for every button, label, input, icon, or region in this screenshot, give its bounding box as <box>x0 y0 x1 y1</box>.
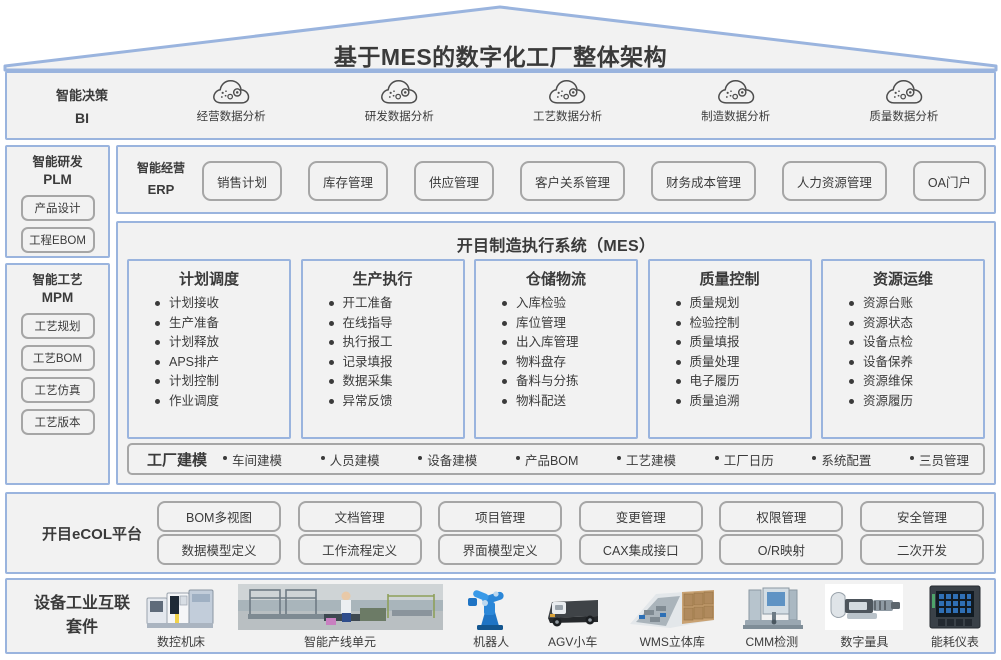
page-title: 基于MES的数字化工厂整体架构 <box>0 38 1001 72</box>
roof-banner: 基于MES的数字化工厂整体架构 <box>0 0 1001 72</box>
mes-column-items: 入库检验 库位管理 出入库管理 物料盘存 备料与分拣 物料配送 <box>476 294 636 411</box>
energy-meter-icon <box>924 584 986 632</box>
plm-label: 智能研发 PLM <box>7 147 108 189</box>
bi-layer: 智能决策 BI 经营数据分析 <box>5 71 996 140</box>
bi-item-label: 制造数据分析 <box>701 108 770 124</box>
list-item[interactable]: 资源状态 <box>849 314 983 334</box>
cmm-inspection-icon <box>739 584 805 632</box>
erp-item-crm[interactable]: 客户关系管理 <box>520 161 625 201</box>
list-item[interactable]: 执行报工 <box>329 333 463 353</box>
list-item[interactable]: 开工准备 <box>329 294 463 314</box>
bi-layer-label: 智能决策 BI <box>23 84 141 130</box>
digital-gauge-icon <box>825 584 903 632</box>
mes-column-items: 计划接收 生产准备 计划释放 APS排产 计划控制 作业调度 <box>129 294 289 411</box>
mes-column-production: 生产执行 开工准备 在线指导 执行报工 记录填报 数据采集 异常反馈 <box>301 259 465 439</box>
erp-item-hr[interactable]: 人力资源管理 <box>782 161 887 201</box>
device-item-label: 能耗仪表 <box>931 633 979 650</box>
mpm-item-process-version[interactable]: 工艺版本 <box>21 409 95 435</box>
list-item[interactable]: 数据采集 <box>329 372 463 392</box>
erp-layer: 智能经营 ERP 销售计划 库存管理 供应管理 客户关系管理 财务成本管理 人力… <box>116 145 996 214</box>
mpm-layer: 智能工艺 MPM 工艺规划 工艺BOM 工艺仿真 工艺版本 <box>5 263 110 485</box>
factory-modeling-item[interactable]: 三员管理 <box>910 450 969 469</box>
device-item-label: CMM检测 <box>745 633 798 650</box>
cloud-gear-icon <box>547 77 587 107</box>
plm-label-cn: 智能研发 <box>7 153 108 171</box>
mes-column-title: 生产执行 <box>303 261 463 294</box>
bi-item[interactable]: 工艺数据分析 <box>497 77 637 124</box>
list-item[interactable]: 资源台账 <box>849 294 983 314</box>
bi-item-list: 经营数据分析 研发数据分析 <box>147 77 988 139</box>
erp-item-supply[interactable]: 供应管理 <box>414 161 494 201</box>
device-item[interactable]: AGV小车 <box>540 584 606 650</box>
mpm-item-process-simulation[interactable]: 工艺仿真 <box>21 377 95 403</box>
list-item[interactable]: 异常反馈 <box>329 392 463 412</box>
factory-modeling-item[interactable]: 系统配置 <box>812 450 871 469</box>
ecol-platform-layer: 开目eCOL平台 BOM多视图 文档管理 项目管理 变更管理 权限管理 安全管理… <box>5 492 996 574</box>
bi-item[interactable]: 研发数据分析 <box>329 77 469 124</box>
list-item[interactable]: 电子履历 <box>676 372 810 392</box>
factory-modeling-bar: 工厂建模 车间建模 人员建模 设备建模 产品BOM 工艺建模 工厂日历 系统配置… <box>127 443 985 475</box>
bi-item-label: 研发数据分析 <box>365 108 434 124</box>
cloud-gear-icon <box>211 77 251 107</box>
list-item[interactable]: 记录填报 <box>329 353 463 373</box>
mes-column-warehouse: 仓储物流 入库检验 库位管理 出入库管理 物料盘存 备料与分拣 物料配送 <box>474 259 638 439</box>
list-item[interactable]: 计划控制 <box>155 372 289 392</box>
plm-item-engineering-ebom[interactable]: 工程EBOM <box>21 227 95 253</box>
list-item[interactable]: 资源维保 <box>849 372 983 392</box>
list-item[interactable]: 库位管理 <box>502 314 636 334</box>
device-item[interactable]: 能耗仪表 <box>924 584 986 650</box>
device-item-label: WMS立体库 <box>640 633 705 650</box>
cloud-gear-icon <box>716 77 756 107</box>
erp-item-finance-cost[interactable]: 财务成本管理 <box>651 161 756 201</box>
erp-item-oa-portal[interactable]: OA门户 <box>913 161 986 201</box>
ecol-item-document-mgmt[interactable]: 文档管理 <box>298 501 422 532</box>
device-item-label: 机器人 <box>473 633 509 650</box>
list-item[interactable]: 入库检验 <box>502 294 636 314</box>
bi-label-en: BI <box>23 107 141 130</box>
list-item[interactable]: 物料配送 <box>502 392 636 412</box>
mes-column-title: 资源运维 <box>823 261 983 294</box>
mpm-label-cn: 智能工艺 <box>7 271 108 289</box>
erp-item-sales-plan[interactable]: 销售计划 <box>202 161 282 201</box>
ecol-item-project-mgmt[interactable]: 项目管理 <box>438 501 562 532</box>
mes-column-items: 开工准备 在线指导 执行报工 记录填报 数据采集 异常反馈 <box>303 294 463 411</box>
ecol-item-data-model-def[interactable]: 数据模型定义 <box>157 534 281 565</box>
list-item[interactable]: 计划释放 <box>155 333 289 353</box>
device-item[interactable]: 数字量具 <box>825 584 903 650</box>
ecol-item-or-mapping[interactable]: O/R映射 <box>719 534 843 565</box>
mes-column-list: 计划调度 计划接收 生产准备 计划释放 APS排产 计划控制 作业调度 生产执行… <box>127 259 985 439</box>
ecol-item-ui-model-def[interactable]: 界面模型定义 <box>438 534 562 565</box>
device-item[interactable]: 智能产线单元 <box>238 584 443 650</box>
list-item[interactable]: 出入库管理 <box>502 333 636 353</box>
bi-item-label: 工艺数据分析 <box>533 108 602 124</box>
erp-item-list: 销售计划 库存管理 供应管理 客户关系管理 财务成本管理 人力资源管理 OA门户 <box>202 159 986 203</box>
mes-column-planning: 计划调度 计划接收 生产准备 计划释放 APS排产 计划控制 作业调度 <box>127 259 291 439</box>
list-item[interactable]: 质量追溯 <box>676 392 810 412</box>
ecol-item-security-mgmt[interactable]: 安全管理 <box>860 501 984 532</box>
mes-column-items: 资源台账 资源状态 设备点检 设备保养 资源维保 资源履历 <box>823 294 983 411</box>
list-item[interactable]: 备料与分拣 <box>502 372 636 392</box>
plm-item-product-design[interactable]: 产品设计 <box>21 195 95 221</box>
list-item[interactable]: 作业调度 <box>155 392 289 412</box>
factory-modeling-title: 工厂建模 <box>129 449 223 470</box>
bi-item[interactable]: 经营数据分析 <box>161 77 301 124</box>
ecol-item-cax-interface[interactable]: CAX集成接口 <box>579 534 703 565</box>
mes-column-resource: 资源运维 资源台账 资源状态 设备点检 设备保养 资源维保 资源履历 <box>821 259 985 439</box>
mes-column-title: 质量控制 <box>650 261 810 294</box>
list-item[interactable]: 在线指导 <box>329 314 463 334</box>
smart-production-line-icon <box>238 584 443 632</box>
bi-item-label: 经营数据分析 <box>197 108 266 124</box>
mes-title: 开目制造执行系统（MES） <box>118 223 994 256</box>
architecture-diagram: 基于MES的数字化工厂整体架构 智能决策 BI 经营数据分析 <box>0 0 1001 660</box>
factory-modeling-item[interactable]: 工艺建模 <box>617 450 676 469</box>
ecol-platform-label: 开目eCOL平台 <box>17 494 167 572</box>
mes-column-items: 质量规划 检验控制 质量填报 质量处理 电子履历 质量追溯 <box>650 294 810 411</box>
list-item[interactable]: 物料盘存 <box>502 353 636 373</box>
device-item[interactable]: 机器人 <box>463 584 519 650</box>
device-iiot-layer: 设备工业互联 套件 数控机床 <box>5 578 996 654</box>
erp-item-inventory[interactable]: 库存管理 <box>308 161 388 201</box>
cloud-gear-icon <box>884 77 924 107</box>
ecol-row-1: BOM多视图 文档管理 项目管理 变更管理 权限管理 安全管理 <box>157 501 984 532</box>
bi-item[interactable]: 质量数据分析 <box>834 77 974 124</box>
ecol-item-grid: BOM多视图 文档管理 项目管理 变更管理 权限管理 安全管理 数据模型定义 工… <box>157 501 984 565</box>
bi-item[interactable]: 制造数据分析 <box>666 77 806 124</box>
mpm-label: 智能工艺 MPM <box>7 265 108 307</box>
ecol-item-secondary-dev[interactable]: 二次开发 <box>860 534 984 565</box>
factory-modeling-item[interactable]: 工厂日历 <box>715 450 774 469</box>
list-item[interactable]: 质量填报 <box>676 333 810 353</box>
robot-arm-icon <box>463 584 519 632</box>
mpm-item-process-planning[interactable]: 工艺规划 <box>21 313 95 339</box>
mes-column-title: 计划调度 <box>129 261 289 294</box>
factory-modeling-item-list: 车间建模 人员建模 设备建模 产品BOM 工艺建模 工厂日历 系统配置 三员管理 <box>223 450 983 469</box>
mes-column-quality: 质量控制 质量规划 检验控制 质量填报 质量处理 电子履历 质量追溯 <box>648 259 812 439</box>
erp-label-en: ERP <box>126 179 196 200</box>
erp-label: 智能经营 ERP <box>126 158 196 200</box>
plm-label-en: PLM <box>7 171 108 189</box>
list-item[interactable]: 质量处理 <box>676 353 810 373</box>
plm-layer: 智能研发 PLM 产品设计 工程EBOM <box>5 145 110 258</box>
device-item[interactable]: 数控机床 <box>145 584 217 650</box>
mpm-item-process-bom[interactable]: 工艺BOM <box>21 345 95 371</box>
agv-cart-icon <box>540 584 606 632</box>
bi-item-label: 质量数据分析 <box>869 108 938 124</box>
mpm-label-en: MPM <box>7 289 108 307</box>
erp-label-cn: 智能经营 <box>126 158 196 179</box>
ecol-item-permission-mgmt[interactable]: 权限管理 <box>719 501 843 532</box>
list-item[interactable]: 质量规划 <box>676 294 810 314</box>
mes-layer: 开目制造执行系统（MES） 计划调度 计划接收 生产准备 计划释放 APS排产 … <box>116 221 996 485</box>
device-item-label: 数字量具 <box>840 633 888 650</box>
list-item[interactable]: 设备点检 <box>849 333 983 353</box>
device-item[interactable]: CMM检测 <box>739 584 805 650</box>
ecol-row-2: 数据模型定义 工作流程定义 界面模型定义 CAX集成接口 O/R映射 二次开发 <box>157 534 984 565</box>
device-label-line1: 设备工业互联 <box>34 592 130 616</box>
device-item-label: 智能产线单元 <box>304 633 376 650</box>
device-item-list: 数控机床 <box>145 582 986 650</box>
factory-modeling-item[interactable]: 设备建模 <box>418 450 477 469</box>
ecol-item-bom-multiview[interactable]: BOM多视图 <box>157 501 281 532</box>
cnc-machine-icon <box>145 584 217 632</box>
factory-modeling-item[interactable]: 产品BOM <box>516 450 578 469</box>
device-item-label: AGV小车 <box>548 633 597 650</box>
device-item[interactable]: WMS立体库 <box>626 584 718 650</box>
device-label-line2: 套件 <box>66 616 98 640</box>
list-item[interactable]: APS排产 <box>155 353 289 373</box>
device-item-label: 数控机床 <box>157 633 205 650</box>
bi-label-cn: 智能决策 <box>23 84 141 107</box>
mes-column-title: 仓储物流 <box>476 261 636 294</box>
list-item[interactable]: 设备保养 <box>849 353 983 373</box>
list-item[interactable]: 计划接收 <box>155 294 289 314</box>
list-item[interactable]: 生产准备 <box>155 314 289 334</box>
wms-warehouse-icon <box>626 584 718 632</box>
factory-modeling-item[interactable]: 车间建模 <box>223 450 282 469</box>
ecol-item-workflow-def[interactable]: 工作流程定义 <box>298 534 422 565</box>
list-item[interactable]: 资源履历 <box>849 392 983 412</box>
cloud-gear-icon <box>379 77 419 107</box>
list-item[interactable]: 检验控制 <box>676 314 810 334</box>
ecol-item-change-mgmt[interactable]: 变更管理 <box>579 501 703 532</box>
factory-modeling-item[interactable]: 人员建模 <box>321 450 380 469</box>
device-layer-label: 设备工业互联 套件 <box>19 580 145 652</box>
